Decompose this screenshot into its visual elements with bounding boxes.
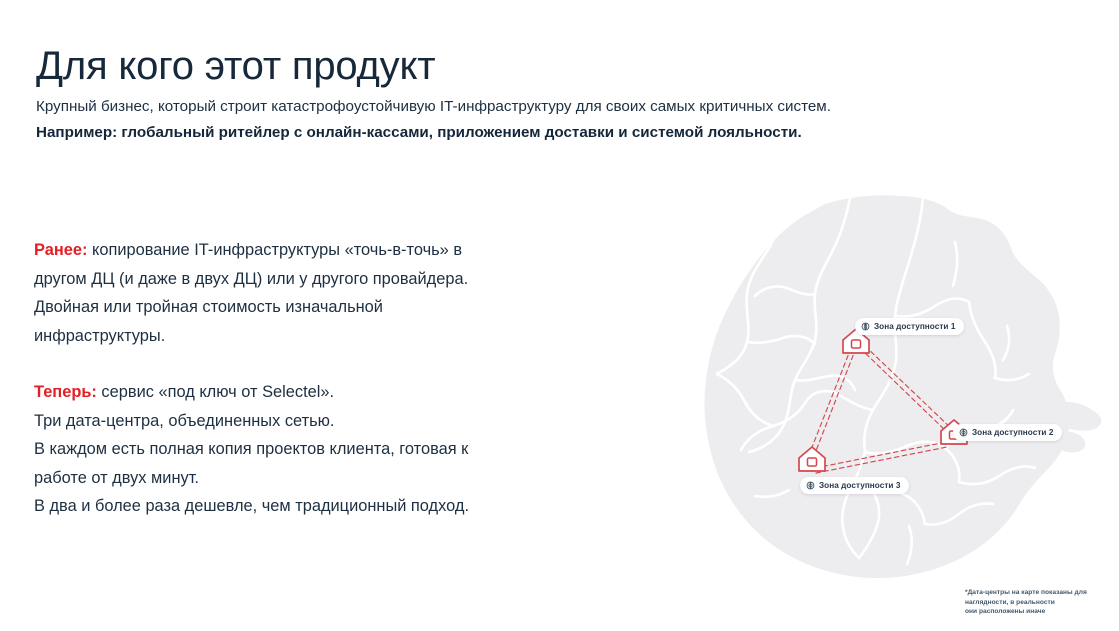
location-pin-icon	[806, 481, 815, 490]
content-column: Ранее: копирование IT-инфраструктуры «то…	[34, 236, 514, 521]
block-before-extra: Двойная или тройная стоимость изначально…	[34, 293, 514, 350]
block-now-extra-2: В каждом есть полная копия проектов клие…	[34, 435, 514, 492]
zone-label-1-text: Зона доступности 1	[874, 321, 955, 332]
page-title: Для кого этот продукт	[36, 41, 435, 91]
location-pin-icon	[861, 322, 870, 331]
map-footnote: *Дата-центры на карте показаны для нагля…	[965, 588, 1119, 617]
block-now-lead: Теперь:	[34, 383, 97, 401]
block-now-extra-3: В два и более раза дешевле, чем традицио…	[34, 492, 514, 521]
zone-label-2[interactable]: Зона доступности 2	[953, 424, 1062, 441]
intro-paragraph: Крупный бизнес, который строит катастроф…	[36, 94, 1086, 146]
zone-label-2-text: Зона доступности 2	[972, 427, 1053, 438]
map-graphic	[655, 176, 1119, 596]
map-footnote-line-1: *Дата-центры на карте показаны для	[965, 588, 1119, 598]
zone-label-3-text: Зона доступности 3	[819, 480, 900, 491]
map-footnote-line-3: они расположены иначе	[965, 607, 1119, 617]
location-pin-icon	[959, 428, 968, 437]
zone-label-3[interactable]: Зона доступности 3	[800, 477, 909, 494]
block-now-body: сервис «под ключ от Selectel».	[97, 383, 334, 401]
block-now: Теперь: сервис «под ключ от Selectel». Т…	[34, 378, 514, 521]
intro-line-2: Например: глобальный ритейлер с онлайн-к…	[36, 120, 1086, 146]
block-before-body: копирование IT-инфраструктуры «точь-в-то…	[34, 241, 468, 288]
block-before-lead: Ранее:	[34, 241, 87, 259]
block-before: Ранее: копирование IT-инфраструктуры «то…	[34, 236, 514, 350]
intro-line-1: Крупный бизнес, который строит катастроф…	[36, 94, 1086, 120]
block-now-extra-1: Три дата-центра, объединенных сетью.	[34, 407, 514, 436]
zone-label-1[interactable]: Зона доступности 1	[855, 318, 964, 335]
availability-zones-map: Зона доступности 1 Зона доступности 2 Зо…	[655, 176, 1119, 631]
map-footnote-line-2: наглядности, в реальности	[965, 598, 1119, 608]
